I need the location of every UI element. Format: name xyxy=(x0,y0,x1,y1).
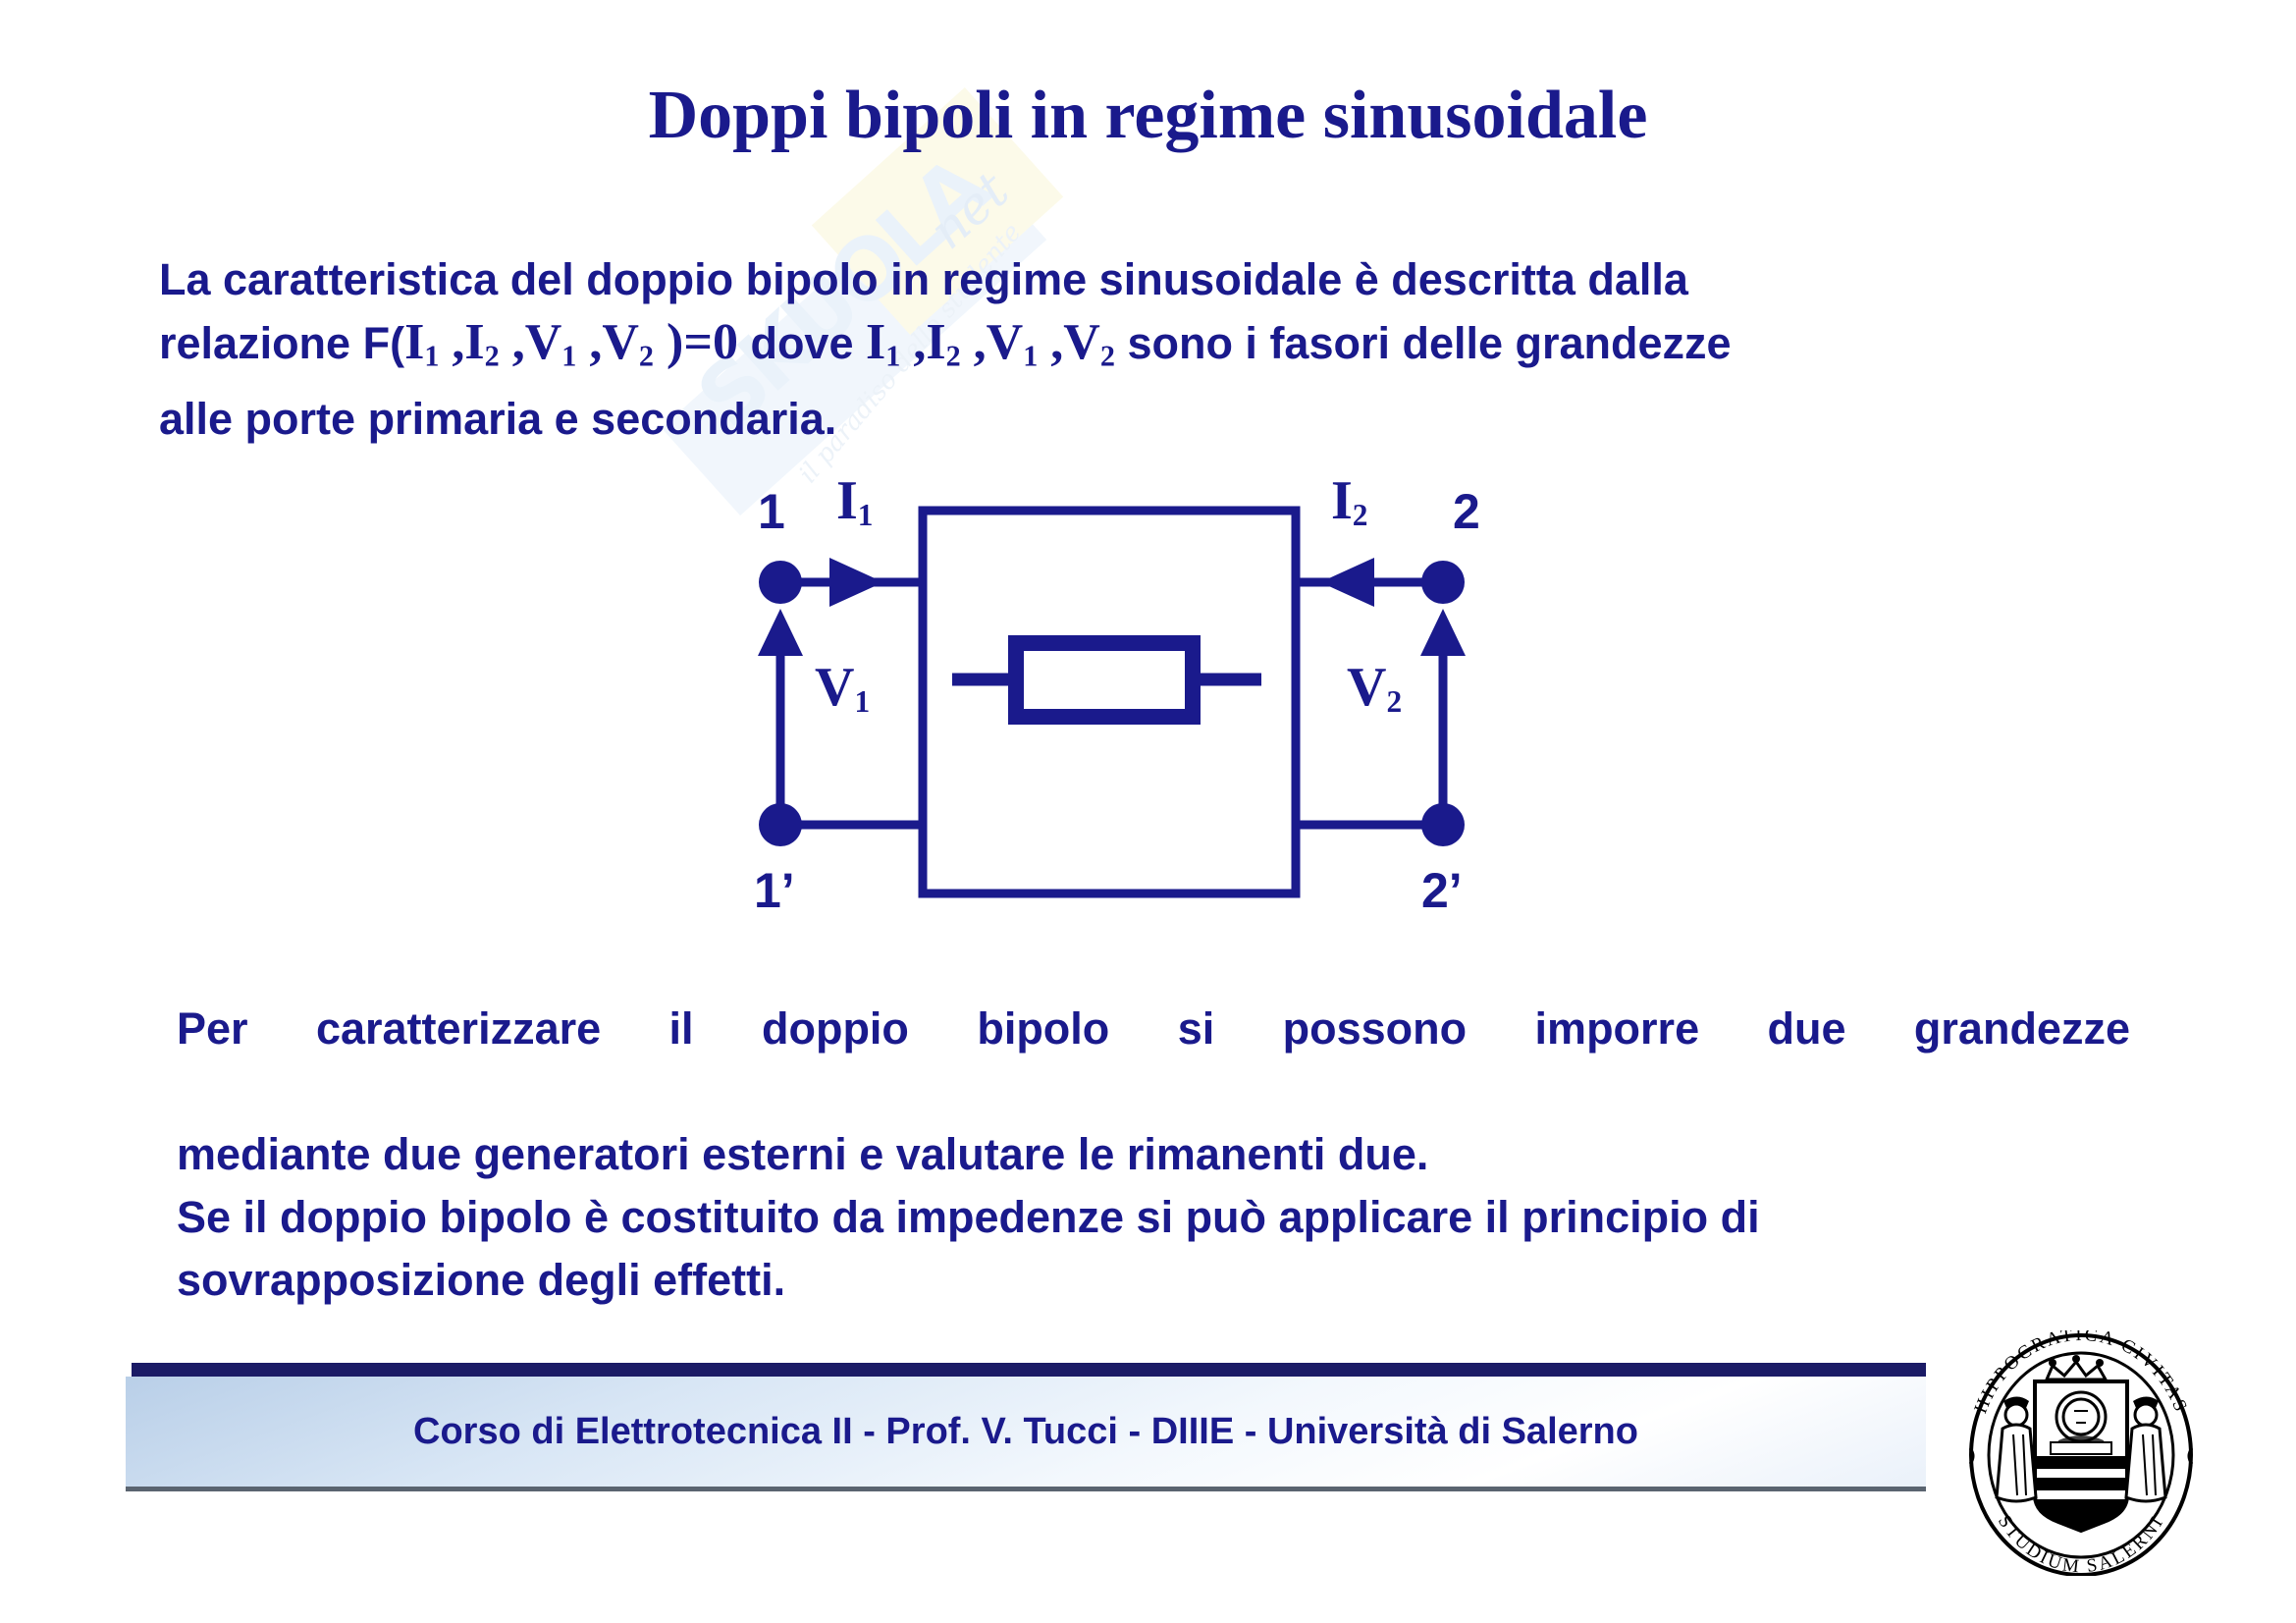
relation-suffix: sono i fasori delle grandezze xyxy=(1115,318,1732,368)
relation-dove: dove xyxy=(738,318,866,368)
slide-canvas: SKUOLA net il paradiso dello studente Do… xyxy=(0,0,2296,1623)
phasor-i1: I1 xyxy=(404,314,439,370)
label-current-i1: I1 xyxy=(836,469,873,533)
phasor-list-i2: I2 xyxy=(926,314,960,370)
paragraph-bottom: Per caratterizzare il doppio bipolo si p… xyxy=(177,998,2130,1312)
phasor-i2: I2 xyxy=(464,314,499,370)
label-voltage-v2: V2 xyxy=(1347,656,1402,720)
phasor-list-v1: V1 xyxy=(987,314,1039,370)
phasor-list-i1: I1 xyxy=(866,314,900,370)
page-title: Doppi bipoli in regime sinusoidale xyxy=(0,77,2296,155)
phasor-v1: V1 xyxy=(525,314,577,370)
watermark-suffix: net xyxy=(919,161,1020,261)
label-terminal-1-prime: 1’ xyxy=(754,862,795,919)
paragraph-top-line-3: alle porte primaria e secondaria. xyxy=(159,388,2142,451)
paragraph-bottom-line-4: sovrapposizione degli effetti. xyxy=(177,1249,2130,1312)
label-terminal-1: 1 xyxy=(758,483,785,540)
footer-text: Corso di Elettrotecnica II - Prof. V. Tu… xyxy=(126,1377,1926,1487)
paragraph-bottom-line-2: mediante due generatori esterni e valuta… xyxy=(177,1123,2130,1186)
university-seal-logo: HIPPOCRATICA CIVITAS STUDIUM SALERNI xyxy=(1949,1330,2214,1576)
sep-6: , xyxy=(1038,314,1063,370)
voltage-arrow-v1-head xyxy=(758,609,803,656)
voltage-arrow-v2-head xyxy=(1420,609,1466,656)
two-port-circuit-diagram: 1 I1 I2 2 V1 V2 1’ 2’ xyxy=(0,461,2296,943)
paragraph-top: La caratteristica del doppio bipolo in r… xyxy=(159,248,2142,451)
footer-top-bar xyxy=(132,1363,1926,1377)
phasor-list-v2: V2 xyxy=(1063,314,1115,370)
footer: Corso di Elettrotecnica II - Prof. V. Tu… xyxy=(126,1363,1926,1500)
label-terminal-2-prime: 2’ xyxy=(1421,862,1463,919)
sep-1: , xyxy=(439,314,464,370)
sep-4: , xyxy=(900,314,926,370)
label-terminal-2: 2 xyxy=(1453,483,1480,540)
sep-3: , xyxy=(576,314,602,370)
relation-prefix: relazione F( xyxy=(159,318,404,368)
paragraph-bottom-line-1: Per caratterizzare il doppio bipolo si p… xyxy=(177,998,2130,1123)
sep-2: , xyxy=(500,314,525,370)
resistor-body xyxy=(1016,643,1193,717)
paragraph-top-line-2: relazione F(I1 ,I2 ,V1 ,V2 )=0 dove I1 ,… xyxy=(159,311,2142,388)
sep-5: , xyxy=(961,314,987,370)
paragraph-bottom-line-3: Se il doppio bipolo è costituito da impe… xyxy=(177,1186,2130,1249)
paragraph-top-line-1: La caratteristica del doppio bipolo in r… xyxy=(159,248,2142,311)
relation-close: )=0 xyxy=(654,314,738,370)
phasor-v2: V2 xyxy=(602,314,654,370)
footer-bottom-rule xyxy=(126,1487,1926,1491)
label-current-i2: I2 xyxy=(1331,469,1367,533)
label-voltage-v1: V1 xyxy=(815,656,870,720)
